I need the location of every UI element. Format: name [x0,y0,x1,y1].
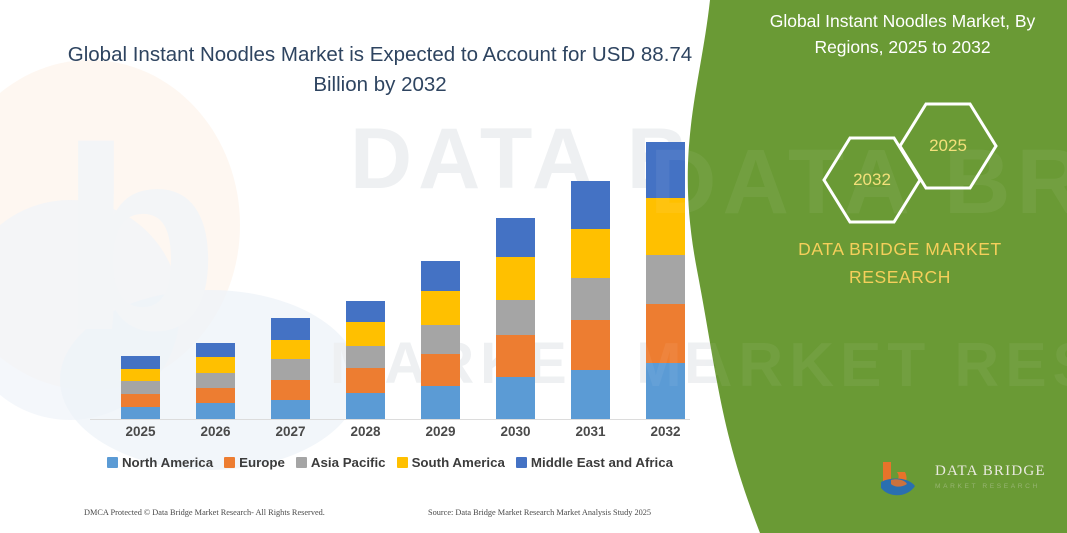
bar-segment[interactable] [496,257,535,300]
footer-copyright: DMCA Protected © Data Bridge Market Rese… [84,508,325,517]
bar-group [90,120,690,420]
brand-name: DATA BRIDGE MARKET RESEARCH [760,235,1040,291]
bar-2029[interactable] [421,261,460,419]
bar-2026[interactable] [196,343,235,419]
legend-label: Asia Pacific [311,455,386,470]
bar-2028[interactable] [346,301,385,419]
bar-segment[interactable] [346,368,385,393]
bar-segment[interactable] [121,369,160,381]
bar-segment[interactable] [421,261,460,291]
bar-segment[interactable] [271,318,310,340]
x-axis-label-2031: 2031 [561,424,621,439]
logo-text: DATA BRIDGE MARKET RESEARCH [935,463,1046,490]
bar-segment[interactable] [571,229,610,278]
x-axis-label-2027: 2027 [261,424,321,439]
bar-segment[interactable] [196,343,235,357]
bar-segment[interactable] [421,325,460,354]
bar-segment[interactable] [121,356,160,369]
bar-segment[interactable] [421,386,460,419]
bar-2027[interactable] [271,318,310,419]
x-axis-label-2030: 2030 [486,424,546,439]
footer-source: Source: Data Bridge Market Research Mark… [428,508,651,517]
bar-segment[interactable] [496,377,535,419]
logo-name: DATA BRIDGE [935,463,1046,480]
logo-subtitle: MARKET RESEARCH [935,483,1046,490]
chart-panel: Global Instant Noodles Market is Expecte… [0,0,760,533]
bar-segment[interactable] [571,181,610,229]
bar-segment[interactable] [196,388,235,403]
bar-segment[interactable] [571,370,610,419]
bar-segment[interactable] [271,359,310,380]
bar-segment[interactable] [271,380,310,400]
bar-segment[interactable] [271,340,310,359]
stacked-bar-chart [90,120,690,420]
hexagon-2032-label: 2032 [820,170,924,190]
bar-segment[interactable] [421,291,460,325]
legend-label: South America [412,455,505,470]
bar-segment[interactable] [346,346,385,368]
bar-segment[interactable] [571,320,610,370]
chart-legend: North AmericaEuropeAsia PacificSouth Ame… [90,455,690,470]
x-axis-label-2025: 2025 [111,424,171,439]
legend-swatch-icon [224,457,235,468]
bar-segment[interactable] [121,407,160,419]
infographic-root: b DATA BRIDGE MARKET RESEARCH Global Ins… [0,0,1067,533]
bar-2025[interactable] [121,356,160,419]
hexagon-group: 2025 2032 [820,100,1000,210]
bar-segment[interactable] [346,393,385,419]
green-watermark-line-2: MARKET RESEARCH [630,330,1067,401]
legend-item-europe[interactable]: Europe [224,455,285,470]
x-axis-label-2026: 2026 [186,424,246,439]
legend-item-middle-east-and-africa[interactable]: Middle East and Africa [516,455,673,470]
footer: DMCA Protected © Data Bridge Market Rese… [0,508,760,528]
bar-segment[interactable] [196,357,235,373]
legend-item-north-america[interactable]: North America [107,455,213,470]
legend-label: Europe [239,455,285,470]
legend-item-asia-pacific[interactable]: Asia Pacific [296,455,386,470]
panel-title: Global Instant Noodles Market, By Region… [750,8,1055,60]
bar-segment[interactable] [196,403,235,419]
bar-segment[interactable] [496,300,535,335]
brand-line-1: DATA BRIDGE MARKET [760,235,1040,263]
brand-panel: DATA BRIDGE MARKET RESEARCH Global Insta… [660,0,1067,533]
legend-item-south-america[interactable]: South America [397,455,505,470]
legend-swatch-icon [397,457,408,468]
bar-segment[interactable] [121,381,160,394]
bar-segment[interactable] [196,373,235,388]
bar-segment[interactable] [346,322,385,346]
x-axis-label-2028: 2028 [336,424,396,439]
bar-segment[interactable] [271,400,310,419]
logo-mark-icon [875,458,931,506]
legend-swatch-icon [107,457,118,468]
bar-segment[interactable] [496,335,535,377]
legend-swatch-icon [296,457,307,468]
bar-segment[interactable] [421,354,460,386]
bar-segment[interactable] [571,278,610,320]
bar-segment[interactable] [496,218,535,257]
x-axis-labels: 20252026202720282029203020312032 [90,424,690,448]
bar-2030[interactable] [496,218,535,419]
bar-segment[interactable] [121,394,160,407]
legend-swatch-icon [516,457,527,468]
data-bridge-logo: DATA BRIDGE MARKET RESEARCH [875,458,1065,508]
brand-line-2: RESEARCH [760,263,1040,291]
legend-label: Middle East and Africa [531,455,673,470]
chart-title: Global Instant Noodles Market is Expecte… [60,40,700,100]
x-axis-label-2029: 2029 [411,424,471,439]
bar-2031[interactable] [571,181,610,419]
bar-segment[interactable] [346,301,385,322]
legend-label: North America [122,455,213,470]
